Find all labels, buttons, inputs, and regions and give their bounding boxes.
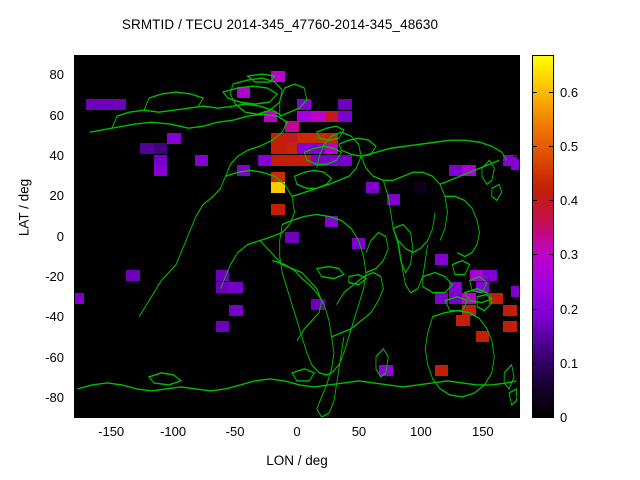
y-tick-label: 40: [22, 148, 64, 163]
y-tick-label: 20: [22, 188, 64, 203]
colorbar-tick-label: 0.2: [560, 302, 578, 317]
colorbar-tick-label: 0: [560, 410, 567, 425]
axis-inner-ticks: [75, 56, 519, 417]
y-axis-label: LAT / deg: [17, 148, 32, 268]
y-tick-label: -40: [22, 309, 64, 324]
y-tick-label: 60: [22, 108, 64, 123]
x-tick-label: -100: [143, 424, 203, 439]
chart-title: SRMTID / TECU 2014-345_47760-2014-345_48…: [0, 17, 560, 32]
x-tick-label: 0: [267, 424, 327, 439]
y-tick-label: 0: [22, 229, 64, 244]
x-tick-label: 100: [391, 424, 451, 439]
x-tick-label: -50: [205, 424, 265, 439]
map-plot-area[interactable]: [74, 55, 520, 418]
x-axis-label: LON / deg: [74, 453, 520, 468]
colorbar-tick-label: 0.1: [560, 356, 578, 371]
y-tick-label: -20: [22, 269, 64, 284]
x-tick-label: -150: [81, 424, 141, 439]
y-tick-label: -80: [22, 390, 64, 405]
y-tick-label: -60: [22, 350, 64, 365]
colorbar-tick-label: 0.5: [560, 139, 578, 154]
x-tick-label: 50: [329, 424, 389, 439]
colorbar-tick-label: 0.6: [560, 85, 578, 100]
colorbar-tick-label: 0.4: [560, 193, 578, 208]
y-tick-label: 80: [22, 67, 64, 82]
colorbar-tick-label: 0.3: [560, 247, 578, 262]
x-tick-label: 150: [453, 424, 513, 439]
